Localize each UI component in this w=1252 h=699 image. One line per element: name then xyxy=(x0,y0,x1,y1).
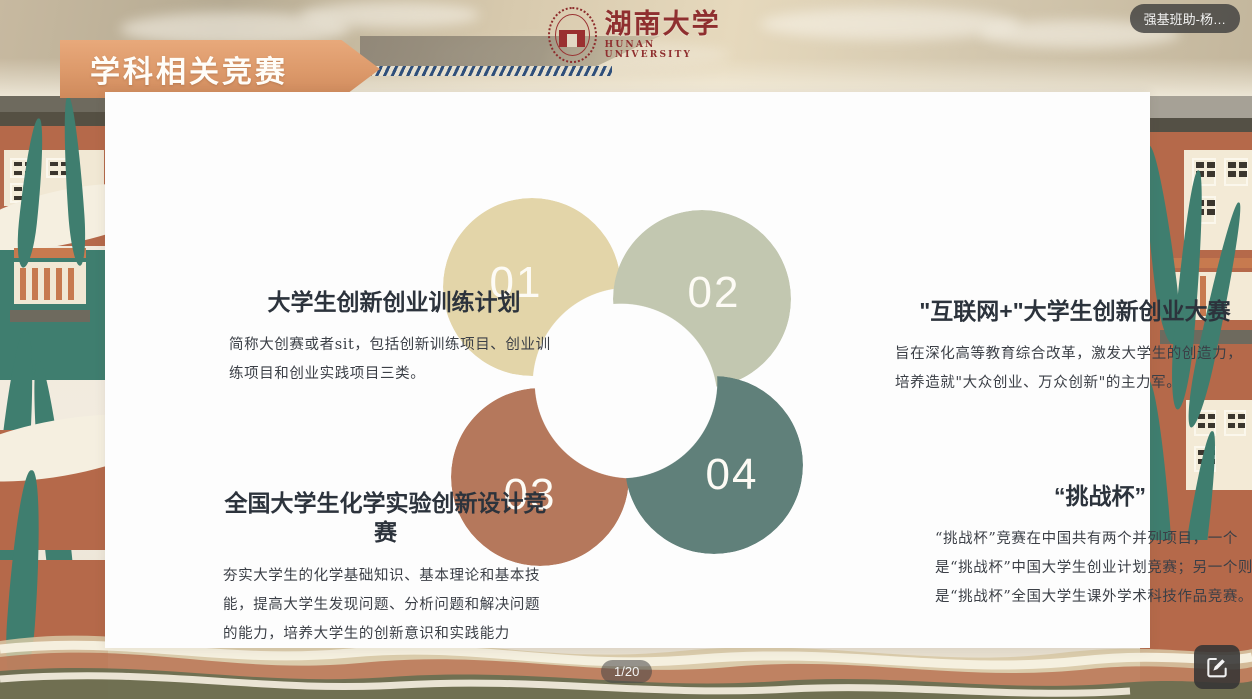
striped-accent-band xyxy=(372,66,612,76)
block-heading-02: "互联网+"大学生创新创业大赛 xyxy=(895,297,1252,326)
circle-number-02: 02 xyxy=(688,268,741,318)
presenter-name-badge[interactable]: 强基班助-杨… xyxy=(1130,4,1240,33)
university-seal-icon xyxy=(548,7,597,63)
block-heading-04: “挑战杯” xyxy=(935,482,1252,511)
presenter-name-label: 强基班助-杨… xyxy=(1144,12,1226,27)
page-indicator: 1/20 xyxy=(601,660,652,683)
pencil-note-icon xyxy=(1204,654,1230,680)
circle-badge-02: 02 xyxy=(613,210,791,388)
content-block-04: “挑战杯” “挑战杯”竞赛在中国共有两个并列项目，一个是“挑战杯”中国大学生创业… xyxy=(935,482,1252,612)
block-body-02: 旨在深化高等教育综合改革，激发大学生的创造力，培养造就"大众创业、万众创新"的主… xyxy=(895,340,1252,398)
page-indicator-label: 1/20 xyxy=(614,664,639,679)
block-heading-03: 全国大学生化学实验创新设计竞赛 xyxy=(223,489,548,548)
university-logo: 湖南大学 HUNAN UNIVERSITY xyxy=(548,4,728,66)
block-body-01: 简称大创赛或者sit，包括创新训练项目、创业训练项目和创业实践项目三类。 xyxy=(229,331,559,389)
presentation-viewer: 学科相关竞赛 湖南大学 HUNAN UNIVERSITY 01 02 03 04 xyxy=(0,0,1252,699)
content-block-03: 全国大学生化学实验创新设计竞赛 夯实大学生的化学基础知识、基本理论和基本技能，提… xyxy=(223,489,548,649)
slide-content-card: 01 02 03 04 大学生创新创业训练计划 简称大创赛或者sit，包括创新训… xyxy=(105,92,1150,648)
annotate-button[interactable] xyxy=(1194,645,1240,689)
block-body-03: 夯实大学生的化学基础知识、基本理论和基本技能，提高大学生发现问题、分析问题和解决… xyxy=(223,562,548,649)
content-block-02: "互联网+"大学生创新创业大赛 旨在深化高等教育综合改革，激发大学生的创造力，培… xyxy=(895,297,1252,398)
page-title: 学科相关竞赛 xyxy=(90,47,288,91)
logo-chinese-name: 湖南大学 xyxy=(605,11,728,38)
slide-title-banner: 学科相关竞赛 xyxy=(60,40,380,98)
circle-badge-04: 04 xyxy=(625,376,803,554)
block-heading-01: 大学生创新创业训练计划 xyxy=(229,288,559,317)
content-block-01: 大学生创新创业训练计划 简称大创赛或者sit，包括创新训练项目、创业训练项目和创… xyxy=(229,288,559,389)
block-body-04: “挑战杯”竞赛在中国共有两个并列项目，一个是“挑战杯”中国大学生创业计划竞赛；另… xyxy=(935,525,1252,612)
logo-english-name: HUNAN UNIVERSITY xyxy=(605,40,728,60)
circle-number-04: 04 xyxy=(706,450,759,500)
